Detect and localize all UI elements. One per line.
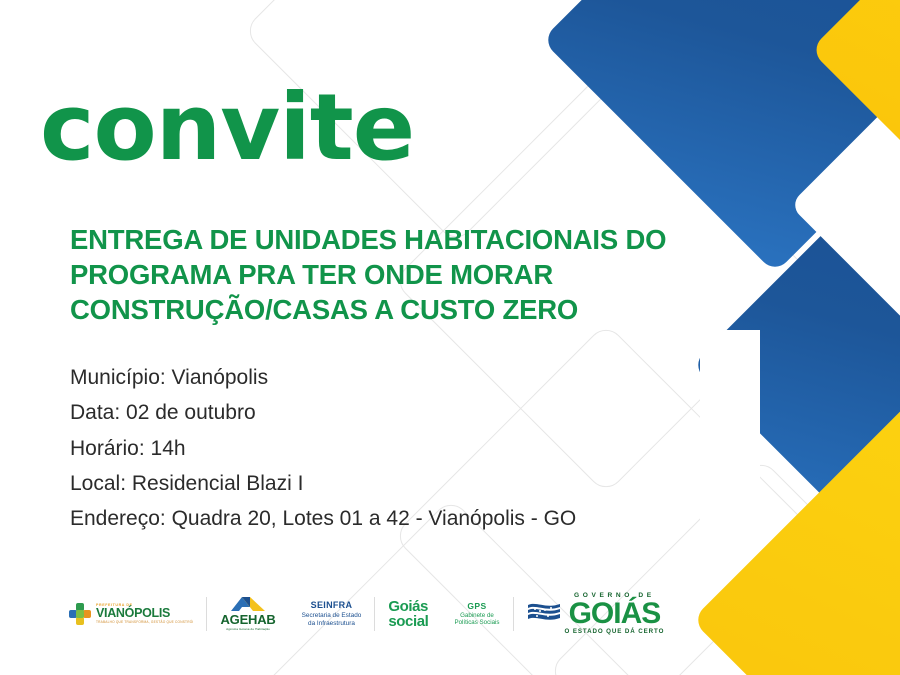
white-wedge-mask-2 xyxy=(700,330,760,530)
green-diamond xyxy=(643,0,900,212)
governo-tagline: O ESTADO QUE DÁ CERTO xyxy=(565,629,665,635)
gps-line-2: Políticas Sociais xyxy=(454,619,499,627)
subtitle-line-2: PROGRAMA PRA TER ONDE MORAR xyxy=(70,257,760,292)
subtitle-line-1: ENTREGA DE UNIDADES HABITACIONAIS DO xyxy=(70,222,760,257)
blue-diamond-middle xyxy=(692,132,900,599)
gps-name: GPS xyxy=(467,601,486,612)
invitation-poster: convite ENTREGA DE UNIDADES HABITACIONAI… xyxy=(0,0,900,675)
yellow-diamond-corner xyxy=(810,0,900,255)
seinfra-name: SEINFRA xyxy=(311,600,353,611)
detail-endereco: Endereço: Quadra 20, Lotes 01 a 42 - Via… xyxy=(70,501,576,536)
detail-data: Data: 02 de outubro xyxy=(70,395,576,430)
logo-gps: GPS Gabinete de Políticas Sociais xyxy=(441,591,512,637)
logo-goias-social: Goiás social xyxy=(375,591,441,637)
yellow-diamond-bottom xyxy=(692,387,900,675)
goias-social-line-1: Goiás xyxy=(388,599,428,614)
detail-horario: Horário: 14h xyxy=(70,431,576,466)
white-wedge-mask xyxy=(789,49,900,360)
agehab-tagline: Agência Goiana de Habitação xyxy=(226,628,270,631)
roof-icon xyxy=(231,597,265,611)
governo-name: GOIÁS xyxy=(569,600,661,628)
outline-diamond-bottom xyxy=(547,457,900,675)
event-details: Município: Vianópolis Data: 02 de outubr… xyxy=(70,360,576,536)
vianopolis-tagline: TRABALHO QUE TRANSFORMA, GESTÃO QUE CONS… xyxy=(96,621,193,624)
green-diamond-mid xyxy=(839,134,900,417)
logo-governo-goias: GOVERNO DE GOIÁS O ESTADO QUE DÁ CERTO xyxy=(514,591,678,637)
logo-vianopolis: PREFEITURA DE VIANÓPOLIS TRABALHO QUE TR… xyxy=(56,591,206,637)
logo-bar: PREFEITURA DE VIANÓPOLIS TRABALHO QUE TR… xyxy=(56,588,677,640)
subtitle-line-3: CONSTRUÇÃO/CASAS A CUSTO ZERO xyxy=(70,292,760,327)
seinfra-line-1: Secretaria de Estado xyxy=(302,612,362,620)
agehab-name: AGEHAB xyxy=(220,613,275,626)
yellow-diamond-top xyxy=(798,0,900,257)
gps-line-1: Gabinete de xyxy=(460,612,494,620)
pinwheel-icon xyxy=(69,603,91,625)
subtitle: ENTREGA DE UNIDADES HABITACIONAIS DO PRO… xyxy=(70,222,760,328)
page-title: convite xyxy=(40,82,414,174)
goias-flag-icon xyxy=(527,601,561,627)
seinfra-line-2: da Infraestrutura xyxy=(308,620,355,628)
logo-agehab: AGEHAB Agência Goiana de Habitação xyxy=(207,591,288,637)
vianopolis-name: VIANÓPOLIS xyxy=(96,607,193,620)
detail-local: Local: Residencial Blazi I xyxy=(70,466,576,501)
goias-social-line-2: social xyxy=(388,614,428,629)
logo-seinfra: SEINFRA Secretaria de Estado da Infraest… xyxy=(289,591,375,637)
detail-municipio: Município: Vianópolis xyxy=(70,360,576,395)
